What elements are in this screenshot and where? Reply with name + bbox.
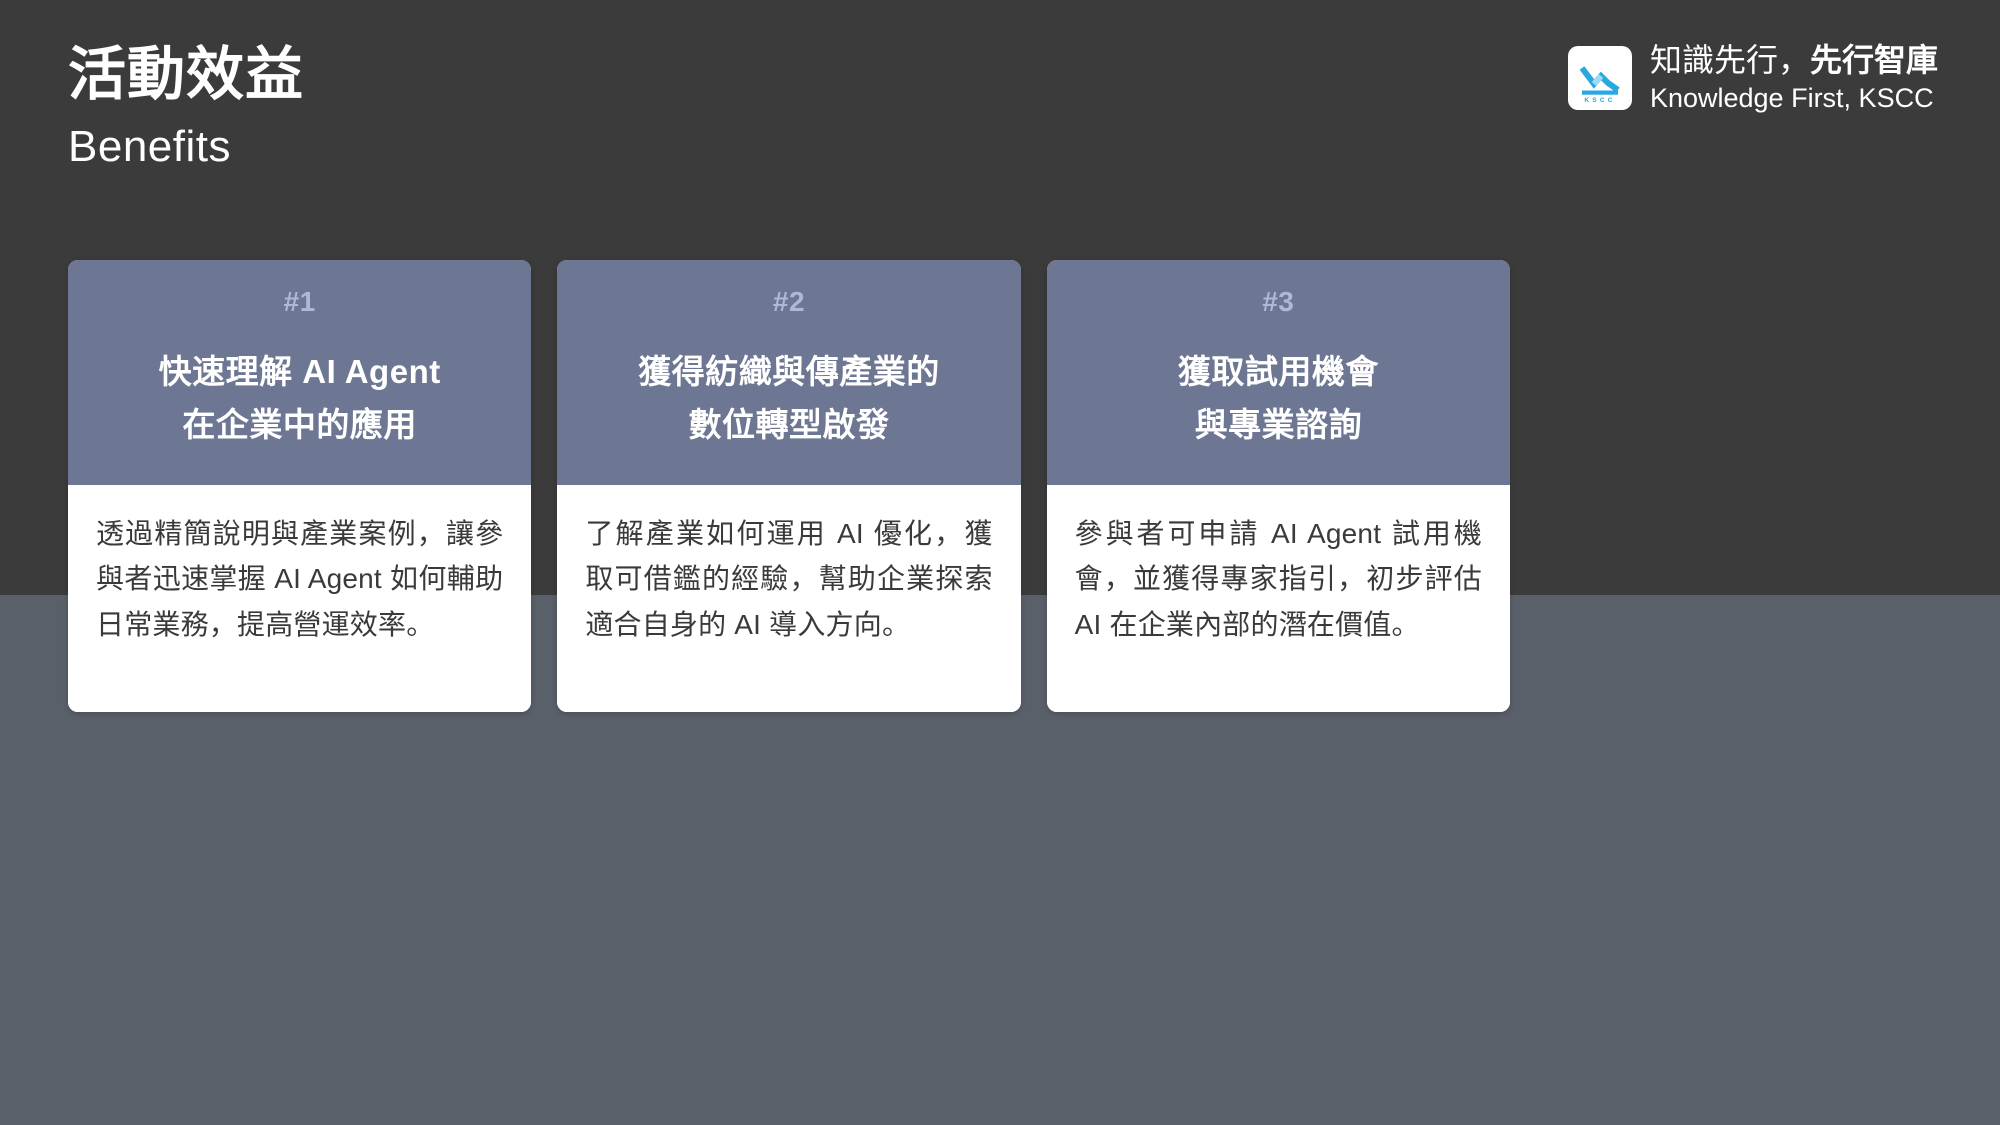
benefit-card-number: #2 [773,288,805,316]
benefit-card-title: 快速理解 AI Agent 在企業中的應用 [159,346,441,452]
benefit-card-title-line: 獲得紡織與傳產業的 [638,346,940,399]
page-title: 活動效益 [68,42,304,109]
benefit-card-body: 透過精簡說明與產業案例，讓參與者迅速掌握 AI Agent 如何輔助日常業務，提… [68,485,531,712]
benefit-card-header: #1 快速理解 AI Agent 在企業中的應用 [68,260,531,485]
benefit-card-number: #1 [284,288,316,316]
benefit-card-title: 獲得紡織與傳產業的 數位轉型啟發 [638,346,940,452]
brand-tagline-cn-bold: 先行智庫 [1810,42,1938,78]
brand-lockup: KSCC 知識先行，先行智庫 Knowledge First, KSCC [1568,40,1938,116]
title-block: 活動效益 Benefits [68,42,304,173]
benefit-card-header: #3 獲取試用機會 與專業諮詢 [1047,260,1510,485]
benefit-card-body: 參與者可申請 AI Agent 試用機會，並獲得專家指引，初步評估 AI 在企業… [1047,485,1510,712]
brand-tagline-en: Knowledge First, KSCC [1650,82,1938,116]
benefit-card-text: 了解產業如何運用 AI 優化，獲取可借鑑的經驗，幫助企業探索適合自身的 AI 導… [585,511,992,647]
benefit-card-title-line: 獲取試用機會 [1178,346,1379,399]
benefit-card-title-line: 數位轉型啟發 [638,399,940,452]
benefit-card-title-line: 與專業諮詢 [1178,399,1379,452]
benefit-card-text: 透過精簡說明與產業案例，讓參與者迅速掌握 AI Agent 如何輔助日常業務，提… [96,511,503,647]
benefit-card: #3 獲取試用機會 與專業諮詢 參與者可申請 AI Agent 試用機會，並獲得… [1047,260,1510,712]
benefit-card-number: #3 [1262,288,1294,316]
benefit-card-text: 參與者可申請 AI Agent 試用機會，並獲得專家指引，初步評估 AI 在企業… [1075,511,1482,647]
kscc-chart-logo-icon: KSCC [1568,46,1632,110]
benefit-card-title-line: 快速理解 AI Agent [159,346,441,399]
benefit-card: #2 獲得紡織與傳產業的 數位轉型啟發 了解產業如何運用 AI 優化，獲取可借鑑… [557,260,1020,712]
slide-header: 活動效益 Benefits KSCC 知識先行，先行智庫 Knowledge F… [0,0,2000,230]
page-subtitle: Benefits [68,121,304,174]
brand-tagline-cn: 知識先行，先行智庫 [1650,40,1938,80]
benefit-card-title-line: 在企業中的應用 [159,399,441,452]
slide-canvas: 活動效益 Benefits KSCC 知識先行，先行智庫 Knowledge F… [0,0,2000,1125]
benefit-card-title: 獲取試用機會 與專業諮詢 [1178,346,1379,452]
svg-text:KSCC: KSCC [1584,97,1615,104]
benefit-card-header: #2 獲得紡織與傳產業的 數位轉型啟發 [557,260,1020,485]
benefit-card: #1 快速理解 AI Agent 在企業中的應用 透過精簡說明與產業案例，讓參與… [68,260,531,712]
brand-text-block: 知識先行，先行智庫 Knowledge First, KSCC [1650,40,1938,116]
benefit-card-body: 了解產業如何運用 AI 優化，獲取可借鑑的經驗，幫助企業探索適合自身的 AI 導… [557,485,1020,712]
brand-tagline-cn-thin: 知識先行， [1650,42,1810,78]
benefit-card-row: #1 快速理解 AI Agent 在企業中的應用 透過精簡說明與產業案例，讓參與… [68,260,1510,712]
